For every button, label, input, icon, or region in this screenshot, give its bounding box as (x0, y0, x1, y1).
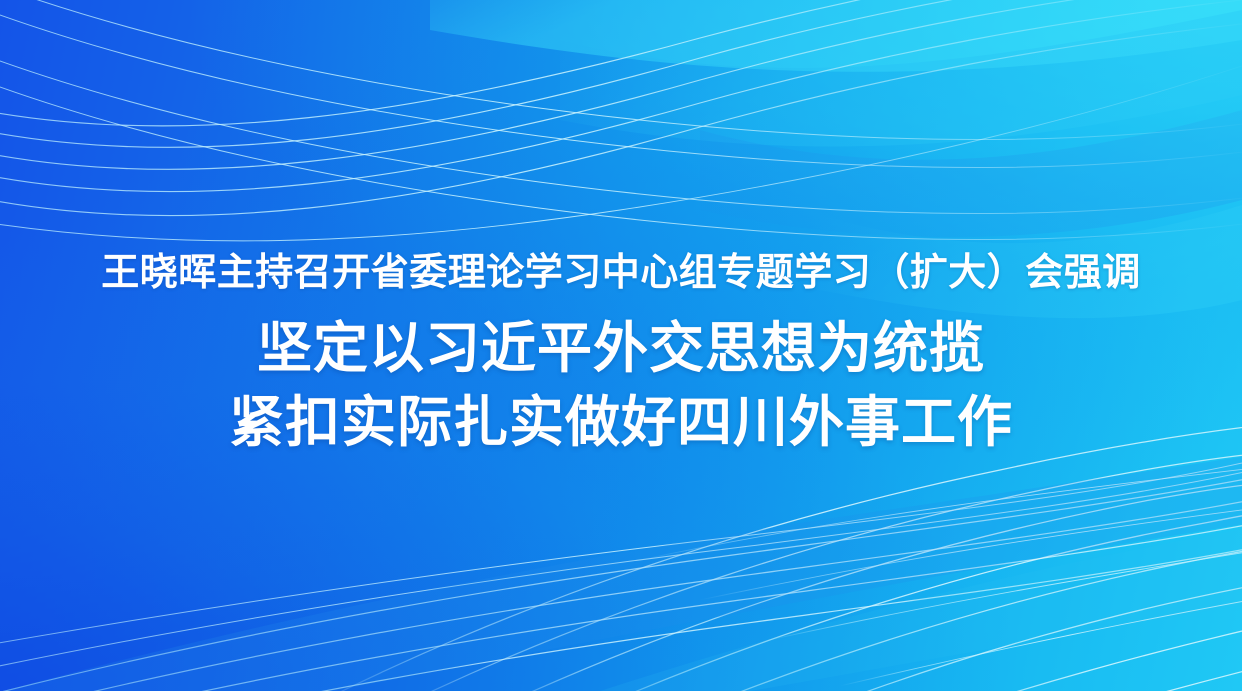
headline-block: 王晓晖主持召开省委理论学习中心组专题学习（扩大）会强调 坚定以习近平外交思想为统… (0, 0, 1242, 691)
headline-line-1: 坚定以习近平外交思想为统揽 (257, 312, 985, 384)
banner-image: 王晓晖主持召开省委理论学习中心组专题学习（扩大）会强调 坚定以习近平外交思想为统… (0, 0, 1242, 691)
headline-line-2: 紧扣实际扎实做好四川外事工作 (229, 386, 1013, 458)
kicker-line: 王晓晖主持召开省委理论学习中心组专题学习（扩大）会强调 (101, 248, 1141, 298)
